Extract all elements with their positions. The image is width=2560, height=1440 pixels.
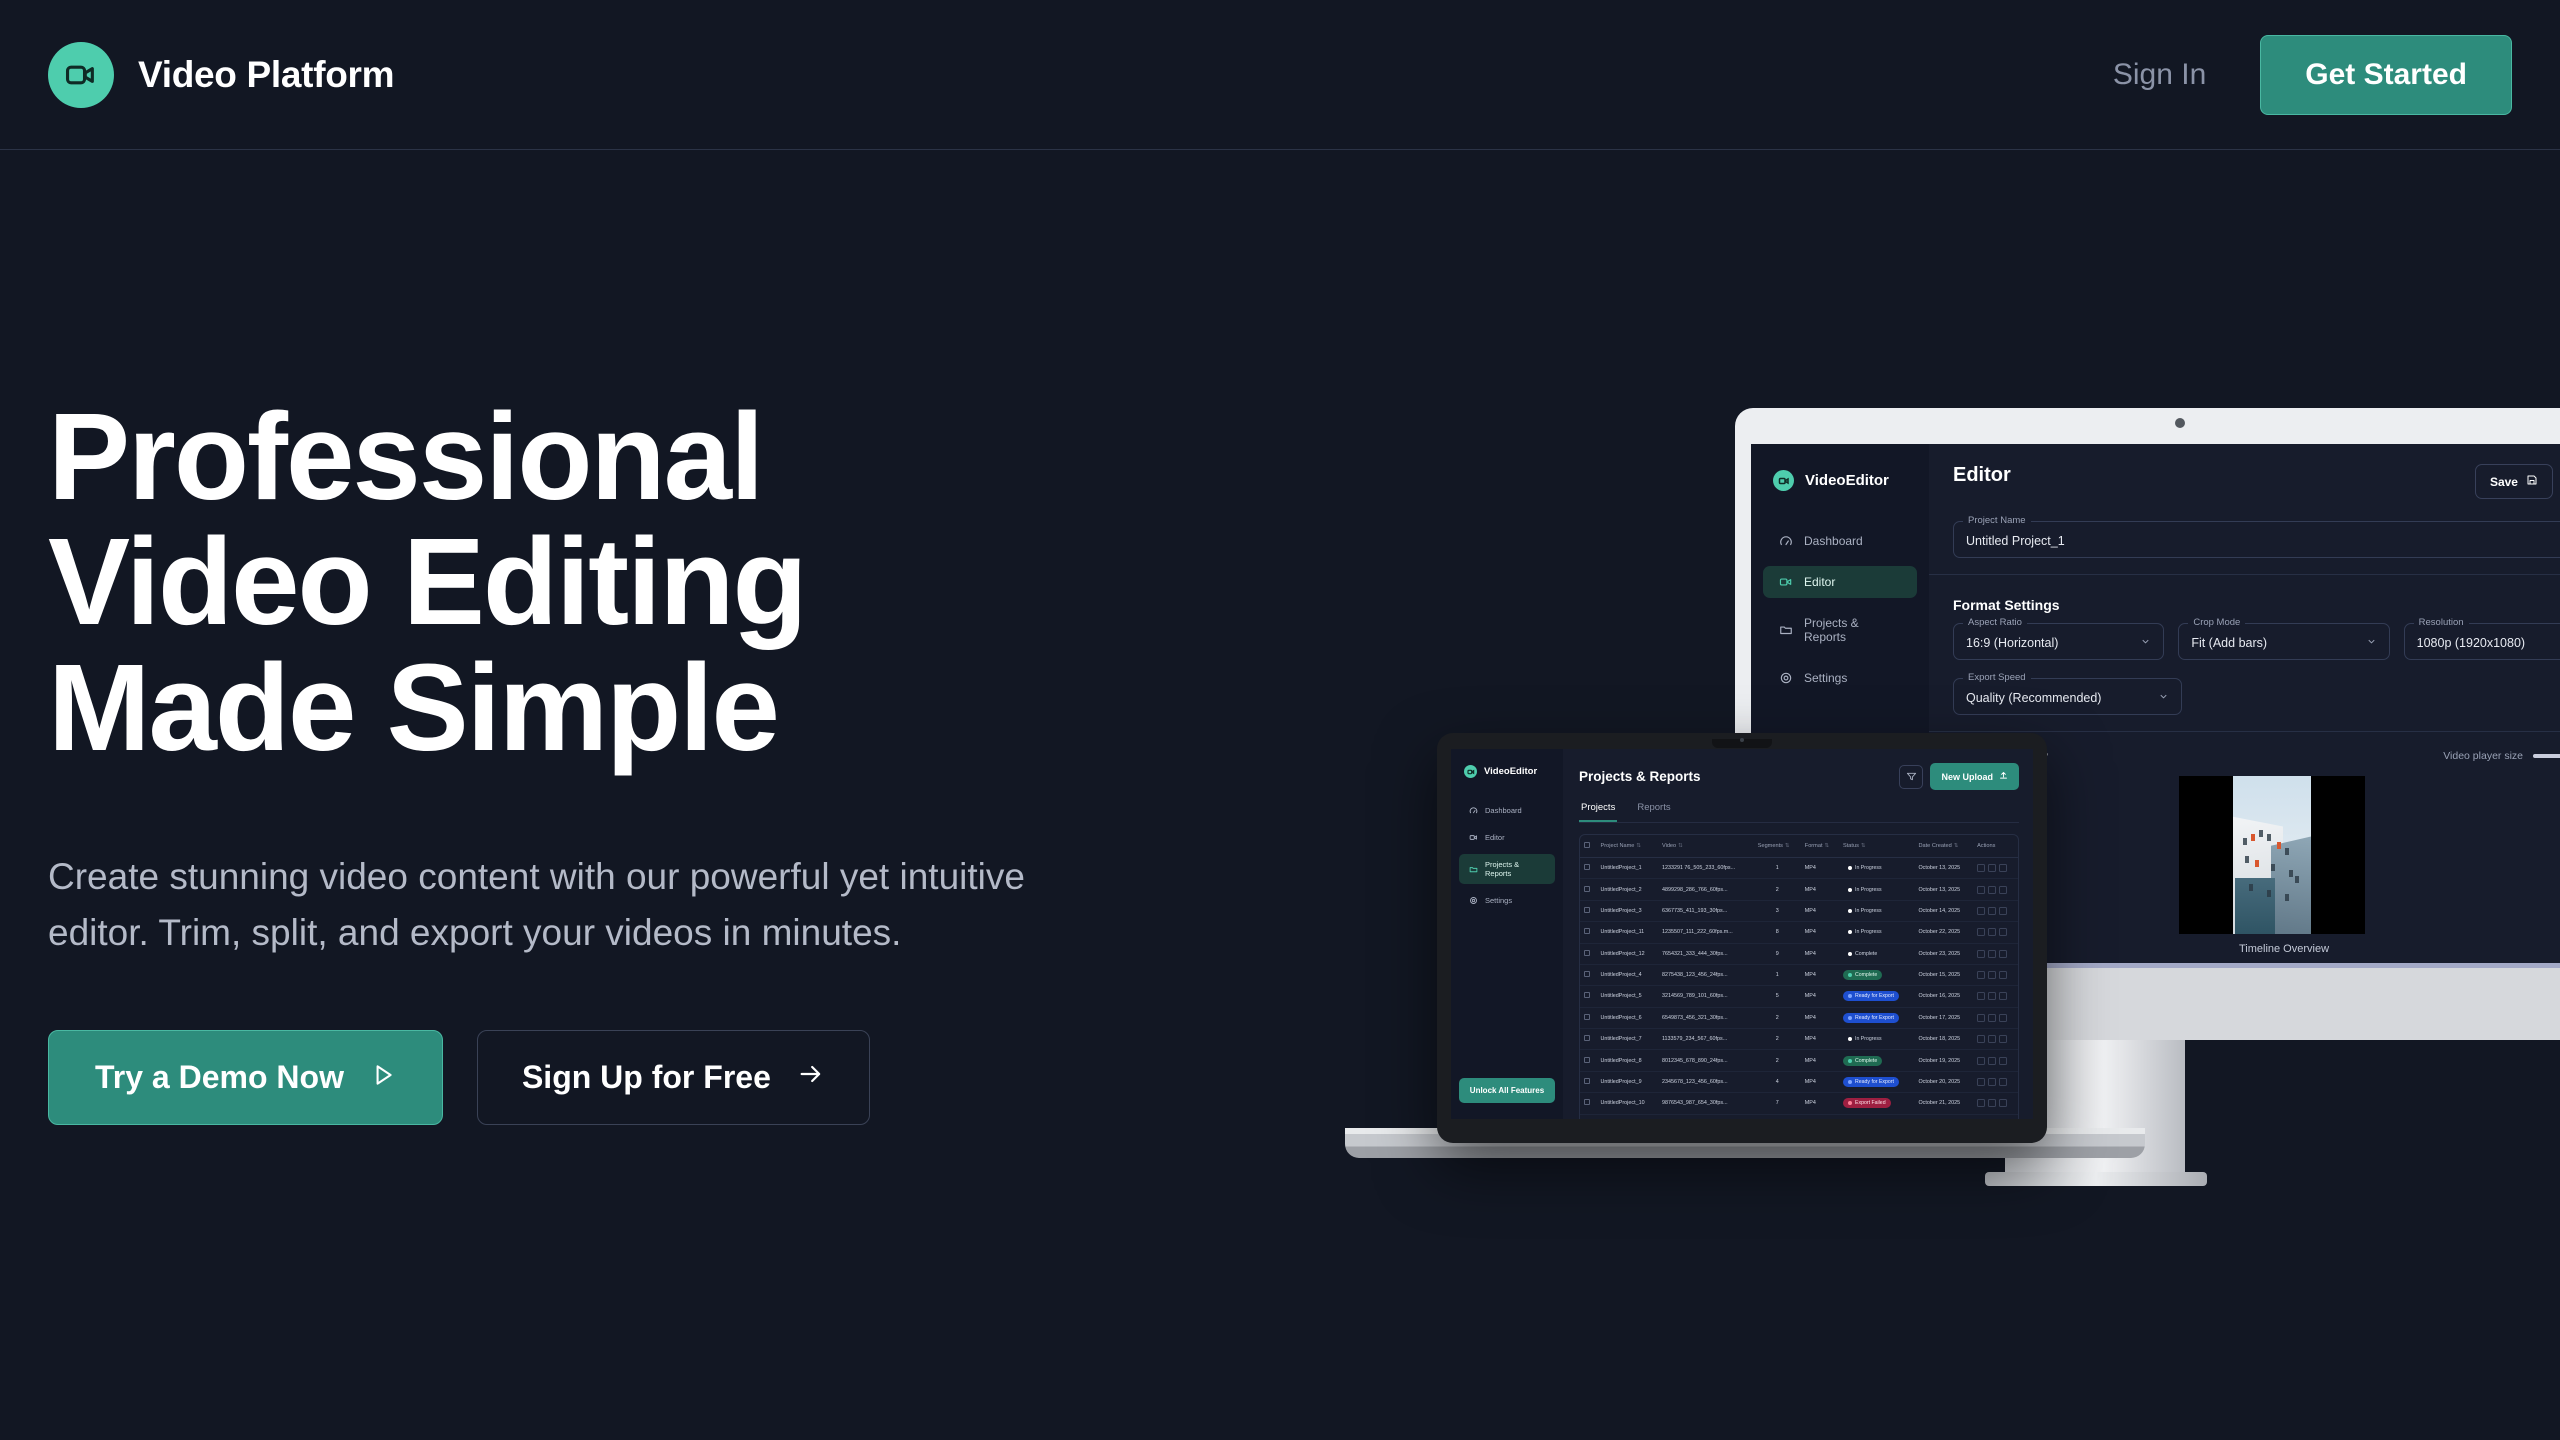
cell-project-name: UntitledProject_13 — [1597, 1114, 1658, 1119]
col-select-all[interactable] — [1580, 835, 1597, 858]
delete-icon[interactable] — [1999, 992, 2007, 1000]
slider-track[interactable] — [2533, 754, 2560, 758]
video-camera-icon — [1779, 575, 1793, 589]
monitor-app-brand: VideoEditor — [1751, 470, 1929, 491]
cell-project-name: UntitledProject_3 — [1597, 900, 1658, 921]
col-video[interactable]: Video⇅ — [1658, 835, 1754, 858]
site-header: Video Platform Sign In Get Started — [0, 0, 2560, 150]
sign-up-free-button[interactable]: Sign Up for Free — [477, 1030, 870, 1125]
building-shape — [2271, 836, 2311, 934]
sign-in-button[interactable]: Sign In — [2113, 58, 2206, 92]
resolution-select[interactable]: Resolution 1080p (1920x1080) — [2404, 623, 2560, 660]
table-row[interactable]: UntitledProject_66549873_456_321_30fps..… — [1580, 1007, 2018, 1028]
filter-funnel-icon[interactable] — [1899, 765, 1923, 789]
cell-actions — [1973, 1093, 2018, 1114]
page-title: Professional Video Editing Made Simple — [48, 395, 1128, 771]
cell-date-created: October 17, 2025 — [1914, 1007, 1973, 1028]
checkbox-icon[interactable] — [1584, 992, 1590, 998]
try-demo-button[interactable]: Try a Demo Now — [48, 1030, 443, 1125]
cell-date-created: October 24, 2025 — [1914, 1114, 1973, 1119]
sidebar-label: Settings — [1804, 671, 1847, 685]
cell-format: MP4 — [1801, 858, 1839, 879]
sidebar-item-settings[interactable]: Settings — [1763, 662, 1917, 694]
cell-project-name: UntitledProject_10 — [1597, 1093, 1658, 1114]
cell-actions — [1973, 943, 2018, 964]
cell-status: In Progress — [1839, 900, 1914, 921]
cell-video: 1357924_555_666_60fps... — [1658, 1114, 1754, 1119]
cell-format: MP4 — [1801, 900, 1839, 921]
new-upload-button[interactable]: New Upload — [1930, 763, 2019, 790]
sidebar-item-dashboard[interactable]: Dashboard — [1459, 800, 1555, 821]
table-row[interactable]: UntitledProject_53214569_789_101_60fps..… — [1580, 986, 2018, 1007]
unlock-all-features-button[interactable]: Unlock All Features — [1459, 1078, 1555, 1103]
cell-video: 1133579_234_567_60fps... — [1658, 1029, 1754, 1050]
cell-project-name: UntitledProject_1 — [1597, 858, 1658, 879]
cell-actions — [1973, 900, 2018, 921]
row-checkbox[interactable] — [1580, 943, 1597, 964]
cell-status: In Progress — [1839, 858, 1914, 879]
edit-icon[interactable] — [1977, 950, 1985, 958]
cell-project-name: UntitledProject_5 — [1597, 986, 1658, 1007]
sidebar-label: Settings — [1485, 896, 1512, 905]
cell-segments: 5 — [1754, 986, 1801, 1007]
download-icon[interactable] — [1988, 886, 1996, 894]
status-badge: In Progress — [1843, 1034, 1887, 1044]
cell-project-name: UntitledProject_9 — [1597, 1071, 1658, 1092]
checkbox-icon[interactable] — [1584, 1035, 1590, 1041]
download-icon[interactable] — [1988, 928, 1996, 936]
cell-video: 2345678_123_456_60fps... — [1658, 1071, 1754, 1092]
checkbox-icon[interactable] — [1584, 971, 1590, 977]
brand-logo[interactable]: Video Platform — [48, 42, 394, 108]
cell-actions — [1973, 922, 2018, 943]
download-icon[interactable] — [1988, 1035, 1996, 1043]
status-badge: Complete — [1843, 970, 1882, 980]
row-checkbox[interactable] — [1580, 964, 1597, 985]
project-name-field[interactable]: Project Name Untitled Project_1 — [1953, 521, 2560, 558]
row-checkbox[interactable] — [1580, 1114, 1597, 1119]
status-badge: Complete — [1843, 949, 1882, 959]
table-row[interactable]: UntitledProject_92345678_123_456_60fps..… — [1580, 1071, 2018, 1092]
sidebar-item-settings[interactable]: Settings — [1459, 890, 1555, 911]
download-icon[interactable] — [1988, 950, 1996, 958]
cell-project-name: UntitledProject_8 — [1597, 1050, 1658, 1071]
status-badge: Ready for Export — [1843, 1013, 1899, 1023]
project-name-value: Untitled Project_1 — [1966, 534, 2065, 548]
edit-icon[interactable] — [1977, 1057, 1985, 1065]
crop-mode-label: Crop Mode — [2188, 617, 2245, 628]
cell-format: MP4 — [1801, 964, 1839, 985]
checkbox-icon[interactable] — [1584, 907, 1590, 913]
export-speed-label: Export Speed — [1963, 672, 2031, 683]
sidebar-item-projects-reports[interactable]: Projects & Reports — [1459, 854, 1555, 884]
download-icon[interactable] — [1988, 992, 1996, 1000]
cell-segments: 7 — [1754, 1093, 1801, 1114]
resolution-value: 1080p (1920x1080) — [2417, 636, 2525, 650]
cell-status: In Progress — [1839, 922, 1914, 943]
laptop-tabs: Projects Reports — [1579, 802, 2019, 823]
monitor-toolbar: Save Exp — [2475, 464, 2560, 499]
cell-project-name: UntitledProject_7 — [1597, 1029, 1658, 1050]
cell-format: MP4 — [1801, 1050, 1839, 1071]
save-button[interactable]: Save — [2475, 464, 2553, 499]
download-icon[interactable] — [1988, 1057, 1996, 1065]
delete-icon[interactable] — [1999, 1099, 2007, 1107]
cell-date-created: October 18, 2025 — [1914, 1029, 1973, 1050]
cell-date-created: October 22, 2025 — [1914, 922, 1973, 943]
play-triangle-icon — [370, 1059, 396, 1096]
video-thumbnail — [2233, 776, 2311, 934]
export-speed-row: Export Speed Quality (Recommended) — [1953, 672, 2560, 715]
row-checkbox[interactable] — [1580, 1071, 1597, 1092]
cell-segments: 3 — [1754, 900, 1801, 921]
cell-date-created: October 21, 2025 — [1914, 1093, 1973, 1114]
table-row[interactable]: UntitledProject_88012345_678_890_24fps..… — [1580, 1050, 2018, 1071]
monitor-app-name: VideoEditor — [1805, 472, 1889, 489]
projects-table: Project Name⇅ Video⇅ Segments⇅ Format⇅ S… — [1579, 834, 2019, 1119]
cell-project-name: UntitledProject_12 — [1597, 943, 1658, 964]
format-settings-heading: Format Settings — [1953, 597, 2560, 613]
cell-status: Export Failed — [1839, 1093, 1914, 1114]
col-actions: Actions — [1973, 835, 2018, 858]
delete-icon[interactable] — [1999, 907, 2007, 915]
cell-video: 4899298_286_766_60fps... — [1658, 879, 1754, 900]
delete-icon[interactable] — [1999, 1014, 2007, 1022]
cell-segments: 4 — [1754, 1071, 1801, 1092]
get-started-button[interactable]: Get Started — [2260, 35, 2512, 115]
crop-mode-select[interactable]: Crop Mode Fit (Add bars) — [2178, 623, 2389, 660]
cell-actions — [1973, 1050, 2018, 1071]
laptop-main: Projects & Reports New Upload — [1563, 749, 2033, 1119]
tab-reports[interactable]: Reports — [1635, 802, 1672, 822]
floppy-disk-icon — [2526, 474, 2538, 489]
cell-segments: 10 — [1754, 1114, 1801, 1119]
cell-date-created: October 23, 2025 — [1914, 943, 1973, 964]
laptop-camera-icon — [1740, 738, 1744, 742]
cell-status: Complete — [1839, 1050, 1914, 1071]
aspect-ratio-label: Aspect Ratio — [1963, 617, 2027, 628]
table-row[interactable]: UntitledProject_109876543_987_654_30fps.… — [1580, 1093, 2018, 1114]
cell-format: MP4 — [1801, 943, 1839, 964]
cell-date-created: October 13, 2025 — [1914, 858, 1973, 879]
cell-video: 6367735_411_193_30fps... — [1658, 900, 1754, 921]
col-status[interactable]: Status⇅ — [1839, 835, 1914, 858]
header-actions: Sign In Get Started — [2113, 35, 2512, 115]
cell-format: MP4 — [1801, 879, 1839, 900]
cell-actions — [1973, 986, 2018, 1007]
checkbox-icon[interactable] — [1584, 1057, 1590, 1063]
laptop-page-title: Projects & Reports — [1579, 769, 1701, 784]
delete-icon[interactable] — [1999, 1057, 2007, 1065]
player-size-label: Video player size — [2443, 750, 2523, 762]
download-icon[interactable] — [1988, 1078, 1996, 1086]
video-camera-icon — [1464, 765, 1477, 778]
monitor-camera-icon — [2175, 418, 2185, 428]
col-segments[interactable]: Segments⇅ — [1754, 835, 1801, 858]
col-date-created[interactable]: Date Created⇅ — [1914, 835, 1973, 858]
cell-status: Ready for Export — [1839, 1007, 1914, 1028]
try-demo-label: Try a Demo Now — [95, 1059, 344, 1096]
cell-date-created: October 14, 2025 — [1914, 900, 1973, 921]
table-body: UntitledProject_11233291 76_505_233_60fp… — [1580, 858, 2018, 1120]
project-name-label: Project Name — [1963, 515, 2031, 526]
table-row[interactable]: UntitledProject_131357924_555_666_60fps.… — [1580, 1114, 2018, 1119]
monitor-topbar: Editor Save Exp — [1929, 464, 2560, 499]
chevron-down-icon — [2158, 691, 2169, 705]
cell-actions — [1973, 964, 2018, 985]
checkbox-icon[interactable] — [1584, 886, 1590, 892]
player-size-slider[interactable]: Video player size — [2443, 750, 2560, 762]
status-badge: In Progress — [1843, 863, 1887, 873]
sidebar-item-dashboard[interactable]: Dashboard — [1763, 525, 1917, 557]
brand-name: Video Platform — [138, 54, 394, 96]
status-badge: Ready for Export — [1843, 991, 1899, 1001]
sidebar-item-editor[interactable]: Editor — [1763, 566, 1917, 598]
cell-date-created: October 15, 2025 — [1914, 964, 1973, 985]
cell-segments: 9 — [1754, 943, 1801, 964]
cell-segments: 2 — [1754, 1050, 1801, 1071]
row-checkbox[interactable] — [1580, 1093, 1597, 1114]
cell-status: Ready for Export — [1839, 1114, 1914, 1119]
status-badge: In Progress — [1843, 906, 1887, 916]
cell-project-name: UntitledProject_2 — [1597, 879, 1658, 900]
sidebar-item-projects-reports[interactable]: Projects & Reports — [1763, 607, 1917, 653]
gear-icon — [1469, 896, 1478, 905]
cell-status: In Progress — [1839, 879, 1914, 900]
cell-segments: 1 — [1754, 964, 1801, 985]
table-row[interactable]: UntitledProject_48275438_123_456_24fps..… — [1580, 964, 2018, 985]
cell-actions — [1973, 879, 2018, 900]
status-badge: Ready for Export — [1843, 1077, 1899, 1087]
cell-status: Complete — [1839, 943, 1914, 964]
checkbox-icon[interactable] — [1584, 928, 1590, 934]
video-camera-icon — [1469, 833, 1478, 842]
chevron-down-icon — [2366, 636, 2377, 650]
video-camera-icon — [48, 42, 114, 108]
cell-video: 6549873_456_321_30fps... — [1658, 1007, 1754, 1028]
cell-status: Complete — [1839, 964, 1914, 985]
cell-segments: 2 — [1754, 879, 1801, 900]
row-checkbox[interactable] — [1580, 858, 1597, 879]
cell-segments: 2 — [1754, 1007, 1801, 1028]
edit-icon[interactable] — [1977, 1014, 1985, 1022]
cell-actions — [1973, 1114, 2018, 1119]
edit-icon[interactable] — [1977, 928, 1985, 936]
aspect-ratio-select[interactable]: Aspect Ratio 16:9 (Horizontal) — [1953, 623, 2164, 660]
cell-video: 3214569_789_101_60fps... — [1658, 986, 1754, 1007]
format-settings-row: Aspect Ratio 16:9 (Horizontal) Crop Mode… — [1953, 617, 2560, 660]
checkbox-icon[interactable] — [1584, 864, 1590, 870]
sign-up-free-label: Sign Up for Free — [522, 1059, 771, 1096]
edit-icon[interactable] — [1977, 1078, 1985, 1086]
row-checkbox[interactable] — [1580, 922, 1597, 943]
cell-project-name: UntitledProject_11 — [1597, 922, 1658, 943]
tab-projects[interactable]: Projects — [1579, 802, 1617, 822]
status-badge: Export Failed — [1843, 1098, 1891, 1108]
cell-video: 9876543_987_654_30fps... — [1658, 1093, 1754, 1114]
cell-format: MP4 — [1801, 1114, 1839, 1119]
row-checkbox[interactable] — [1580, 1029, 1597, 1050]
cell-video: 1235507_111_222_60fps.m... — [1658, 922, 1754, 943]
edit-icon[interactable] — [1977, 886, 1985, 894]
cell-video: 1233291 76_505_233_60fps... — [1658, 858, 1754, 879]
row-checkbox[interactable] — [1580, 879, 1597, 900]
checkbox-icon[interactable] — [1584, 950, 1590, 956]
sidebar-label: Projects & Reports — [1485, 860, 1545, 878]
table-row[interactable]: UntitledProject_127654321_333_444_30fps.… — [1580, 943, 2018, 964]
sidebar-label: Dashboard — [1485, 806, 1522, 815]
folder-icon — [1469, 865, 1478, 874]
export-speed-select[interactable]: Export Speed Quality (Recommended) — [1953, 678, 2182, 715]
table-row[interactable]: UntitledProject_36367735_411_193_30fps..… — [1580, 900, 2018, 921]
delete-icon[interactable] — [1999, 886, 2007, 894]
edit-icon[interactable] — [1977, 907, 1985, 915]
save-label: Save — [2490, 475, 2518, 489]
divider — [1929, 574, 2560, 575]
delete-icon[interactable] — [1999, 1078, 2007, 1086]
status-badge: Complete — [1843, 1056, 1882, 1066]
cell-segments: 2 — [1754, 1029, 1801, 1050]
delete-icon[interactable] — [1999, 971, 2007, 979]
new-upload-label: New Upload — [1941, 772, 1993, 782]
cell-video: 8275438_123_456_24fps... — [1658, 964, 1754, 985]
laptop-toolbar: New Upload — [1899, 763, 2019, 790]
cell-project-name: UntitledProject_4 — [1597, 964, 1658, 985]
cell-date-created: October 16, 2025 — [1914, 986, 1973, 1007]
cell-date-created: October 19, 2025 — [1914, 1050, 1973, 1071]
checkbox-icon[interactable] — [1584, 842, 1590, 848]
chevron-down-icon — [2140, 636, 2151, 650]
delete-icon[interactable] — [1999, 928, 2007, 936]
cell-format: MP4 — [1801, 922, 1839, 943]
download-icon[interactable] — [1988, 1099, 1996, 1107]
gauge-icon — [1779, 534, 1793, 548]
crop-mode-value: Fit (Add bars) — [2191, 636, 2267, 650]
edit-icon[interactable] — [1977, 864, 1985, 872]
cell-actions — [1973, 1071, 2018, 1092]
row-checkbox[interactable] — [1580, 1007, 1597, 1028]
table-row[interactable]: UntitledProject_71133579_234_567_60fps..… — [1580, 1029, 2018, 1050]
laptop-screen: VideoEditor Dashboard Editor Projects & … — [1451, 749, 2033, 1119]
laptop-app-name: VideoEditor — [1484, 766, 1537, 777]
building-shape — [2235, 878, 2275, 934]
col-project-name[interactable]: Project Name⇅ — [1597, 835, 1658, 858]
delete-icon[interactable] — [1999, 950, 2007, 958]
edit-icon[interactable] — [1977, 1099, 1985, 1107]
status-badge: In Progress — [1843, 927, 1887, 937]
cell-actions — [1973, 1029, 2018, 1050]
cell-segments: 8 — [1754, 922, 1801, 943]
row-checkbox[interactable] — [1580, 900, 1597, 921]
cell-video: 8012345_678_890_24fps... — [1658, 1050, 1754, 1071]
checkbox-icon[interactable] — [1584, 1014, 1590, 1020]
upload-arrow-icon — [1999, 771, 2008, 782]
table-row[interactable]: UntitledProject_11233291 76_505_233_60fp… — [1580, 858, 2018, 879]
table-row[interactable]: UntitledProject_111235507_111_222_60fps.… — [1580, 922, 2018, 943]
sidebar-label: Editor — [1804, 575, 1835, 589]
checkbox-icon[interactable] — [1584, 1078, 1590, 1084]
cell-format: MP4 — [1801, 1071, 1839, 1092]
monitor-stand-foot — [1985, 1172, 2207, 1186]
download-icon[interactable] — [1988, 971, 1996, 979]
cell-date-created: October 20, 2025 — [1914, 1071, 1973, 1092]
laptop-app-brand: VideoEditor — [1451, 765, 1563, 778]
table-row[interactable]: UntitledProject_24899298_286_766_60fps..… — [1580, 879, 2018, 900]
col-format[interactable]: Format⇅ — [1801, 835, 1839, 858]
cell-video: 7654321_333_444_30fps... — [1658, 943, 1754, 964]
cell-project-name: UntitledProject_6 — [1597, 1007, 1658, 1028]
laptop-device: VideoEditor Dashboard Editor Projects & … — [1437, 733, 2047, 1143]
cell-format: MP4 — [1801, 1093, 1839, 1114]
cell-format: MP4 — [1801, 1029, 1839, 1050]
video-preview-player[interactable] — [2179, 776, 2365, 934]
delete-icon[interactable] — [1999, 1035, 2007, 1043]
cell-date-created: October 13, 2025 — [1914, 879, 1973, 900]
download-icon[interactable] — [1988, 1014, 1996, 1022]
divider — [1929, 731, 2560, 732]
arrow-right-icon — [797, 1059, 825, 1096]
delete-icon[interactable] — [1999, 864, 2007, 872]
cell-actions — [1973, 1007, 2018, 1028]
sidebar-label: Editor — [1485, 833, 1505, 842]
cell-status: In Progress — [1839, 1029, 1914, 1050]
cell-segments: 1 — [1754, 858, 1801, 879]
edit-icon[interactable] — [1977, 971, 1985, 979]
sidebar-item-editor[interactable]: Editor — [1459, 827, 1555, 848]
download-icon[interactable] — [1988, 864, 1996, 872]
export-speed-value: Quality (Recommended) — [1966, 691, 2101, 705]
cell-status: Ready for Export — [1839, 986, 1914, 1007]
sidebar-label: Dashboard — [1804, 534, 1863, 548]
laptop-header: Projects & Reports New Upload — [1579, 763, 2019, 790]
laptop-sidebar: VideoEditor Dashboard Editor Projects & … — [1451, 749, 1563, 1119]
row-checkbox[interactable] — [1580, 986, 1597, 1007]
video-camera-icon — [1773, 470, 1794, 491]
status-badge: In Progress — [1843, 885, 1887, 895]
edit-icon[interactable] — [1977, 1035, 1985, 1043]
download-icon[interactable] — [1988, 907, 1996, 915]
hero-cta-row: Try a Demo Now Sign Up for Free — [48, 1030, 1128, 1125]
edit-icon[interactable] — [1977, 992, 1985, 1000]
table-header-row: Project Name⇅ Video⇅ Segments⇅ Format⇅ S… — [1580, 835, 2018, 858]
gauge-icon — [1469, 806, 1478, 815]
checkbox-icon[interactable] — [1584, 1099, 1590, 1105]
gear-icon — [1779, 671, 1793, 685]
row-checkbox[interactable] — [1580, 1050, 1597, 1071]
aspect-ratio-value: 16:9 (Horizontal) — [1966, 636, 2058, 650]
cell-format: MP4 — [1801, 1007, 1839, 1028]
cell-format: MP4 — [1801, 986, 1839, 1007]
folder-icon — [1779, 623, 1793, 637]
hero-subtitle: Create stunning video content with our p… — [48, 849, 1108, 960]
resolution-label: Resolution — [2414, 617, 2469, 628]
sidebar-label: Projects & Reports — [1804, 616, 1901, 644]
cell-actions — [1973, 858, 2018, 879]
hero-section: Professional Video Editing Made Simple C… — [48, 395, 1128, 1125]
monitor-page-title: Editor — [1953, 464, 2011, 487]
cell-status: Ready for Export — [1839, 1071, 1914, 1092]
